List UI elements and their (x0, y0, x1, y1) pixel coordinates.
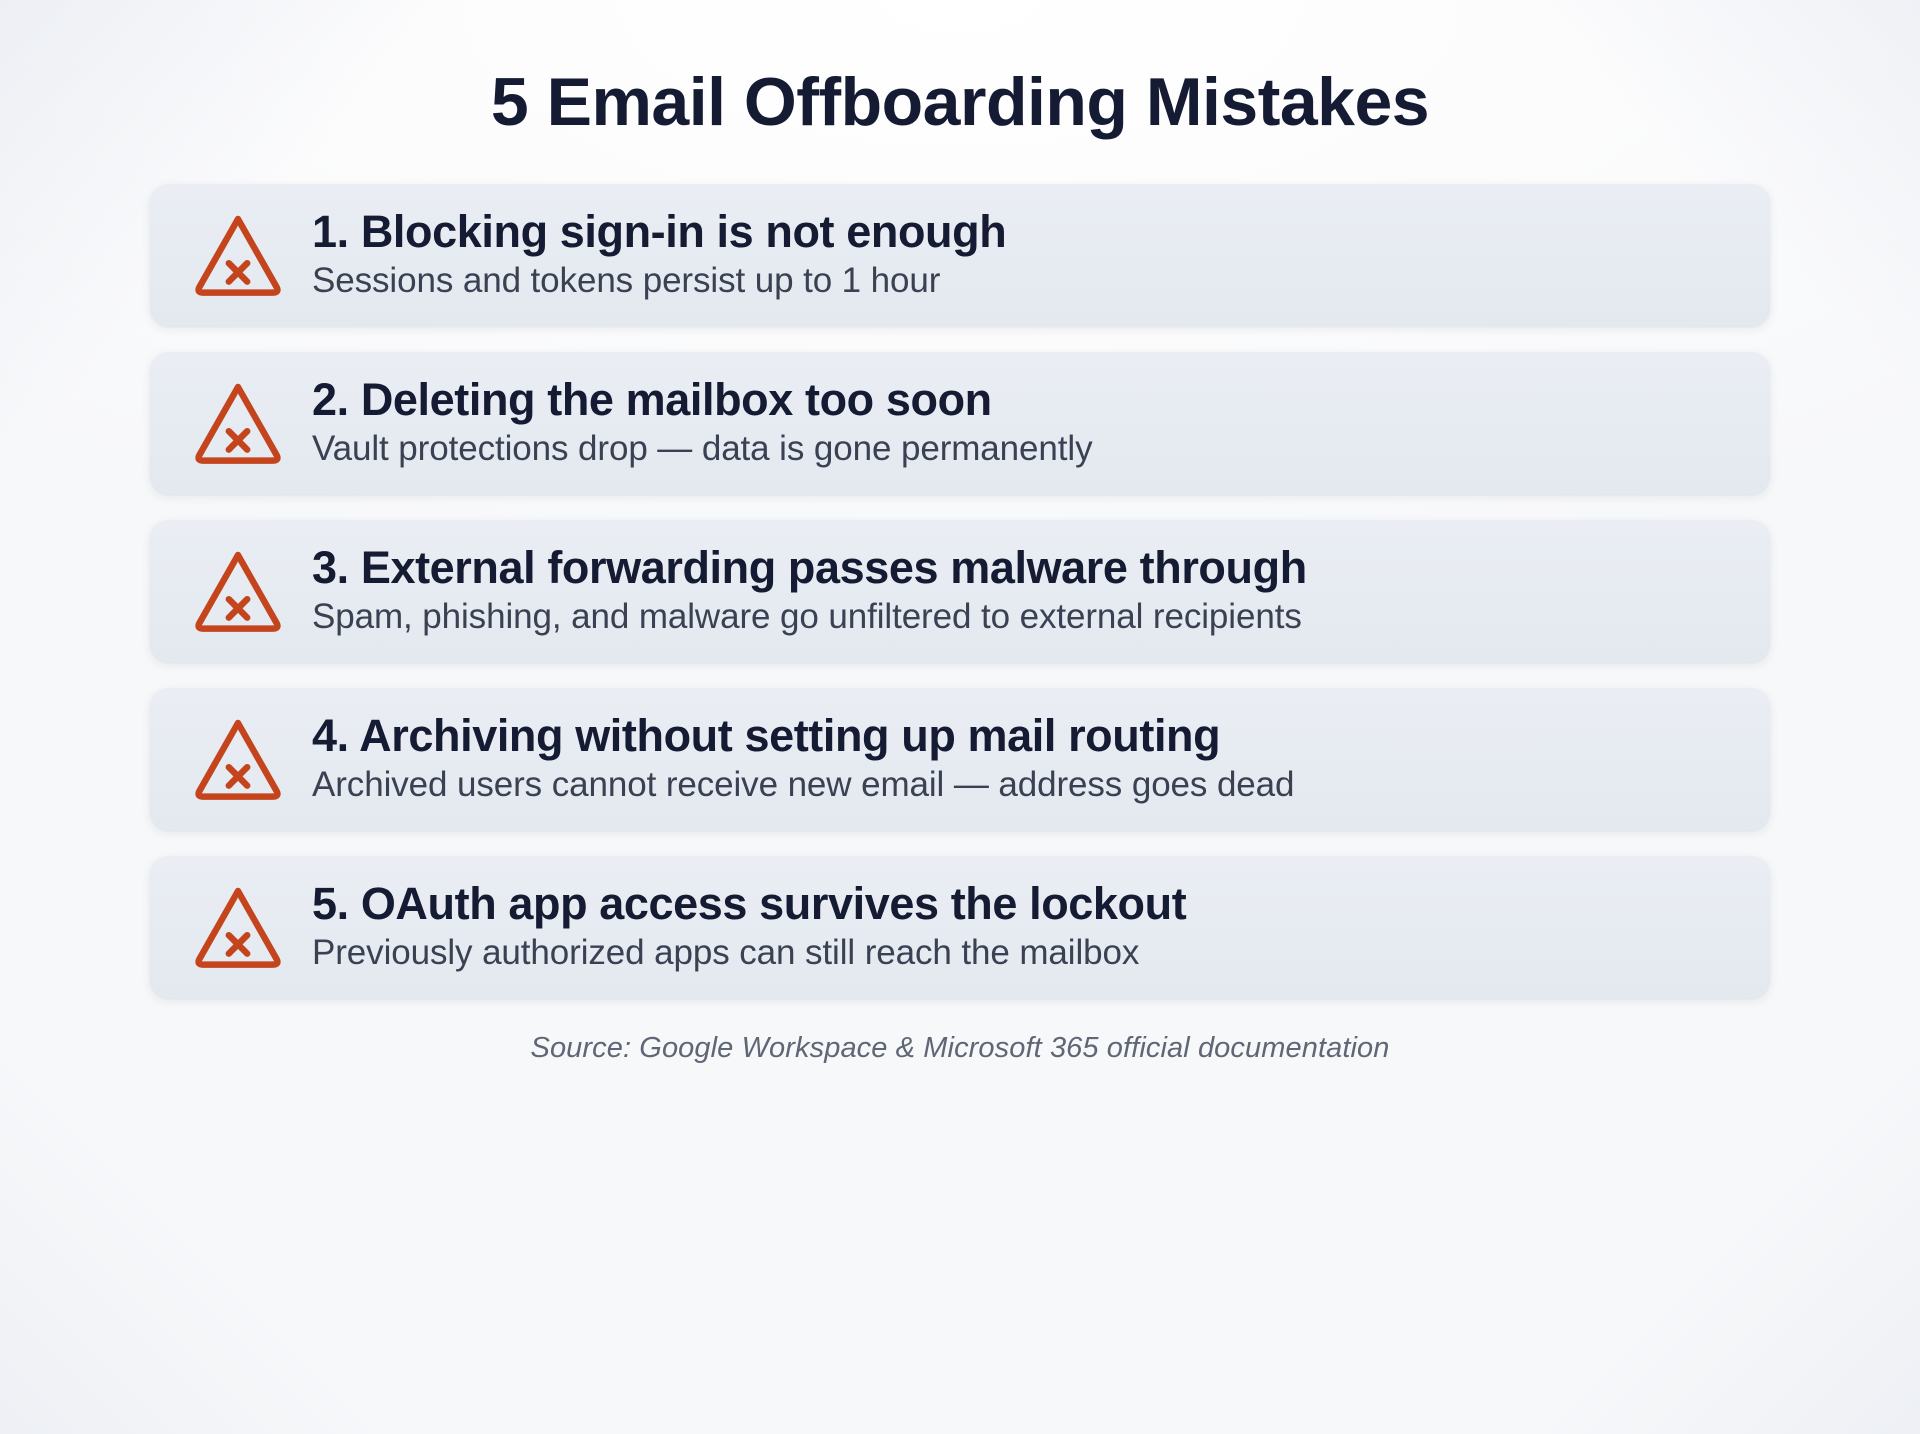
list-item-heading: 3. External forwarding passes malware th… (312, 542, 1736, 593)
list-item-text: 3. External forwarding passes malware th… (312, 542, 1736, 637)
warning-triangle-x-icon (190, 710, 286, 806)
list-item-subtitle: Archived users cannot receive new email … (312, 764, 1736, 806)
mistakes-list: 1. Blocking sign-in is not enough Sessio… (150, 184, 1770, 998)
list-item-heading: 5. OAuth app access survives the lockout (312, 878, 1736, 929)
list-item-text: 4. Archiving without setting up mail rou… (312, 710, 1736, 805)
list-item: 5. OAuth app access survives the lockout… (150, 856, 1770, 998)
warning-triangle-x-icon (190, 206, 286, 302)
warning-triangle-x-icon (190, 542, 286, 638)
source-caption: Source: Google Workspace & Microsoft 365… (0, 1032, 1920, 1065)
list-item-text: 1. Blocking sign-in is not enough Sessio… (312, 206, 1736, 301)
list-item-heading: 2. Deleting the mailbox too soon (312, 374, 1736, 425)
list-item-text: 2. Deleting the mailbox too soon Vault p… (312, 374, 1736, 469)
infographic-poster: 5 Email Offboarding Mistakes 1. Blocking… (0, 0, 1920, 1434)
page-title: 5 Email Offboarding Mistakes (0, 0, 1920, 138)
warning-triangle-x-icon (190, 878, 286, 974)
list-item-text: 5. OAuth app access survives the lockout… (312, 878, 1736, 973)
list-item: 1. Blocking sign-in is not enough Sessio… (150, 184, 1770, 326)
list-item: 3. External forwarding passes malware th… (150, 520, 1770, 662)
warning-triangle-x-icon (190, 374, 286, 470)
list-item-subtitle: Vault protections drop — data is gone pe… (312, 428, 1736, 470)
list-item: 2. Deleting the mailbox too soon Vault p… (150, 352, 1770, 494)
list-item-subtitle: Sessions and tokens persist up to 1 hour (312, 260, 1736, 302)
list-item-heading: 4. Archiving without setting up mail rou… (312, 710, 1736, 761)
list-item: 4. Archiving without setting up mail rou… (150, 688, 1770, 830)
list-item-subtitle: Spam, phishing, and malware go unfiltere… (312, 596, 1736, 638)
list-item-heading: 1. Blocking sign-in is not enough (312, 206, 1736, 257)
list-item-subtitle: Previously authorized apps can still rea… (312, 932, 1736, 974)
